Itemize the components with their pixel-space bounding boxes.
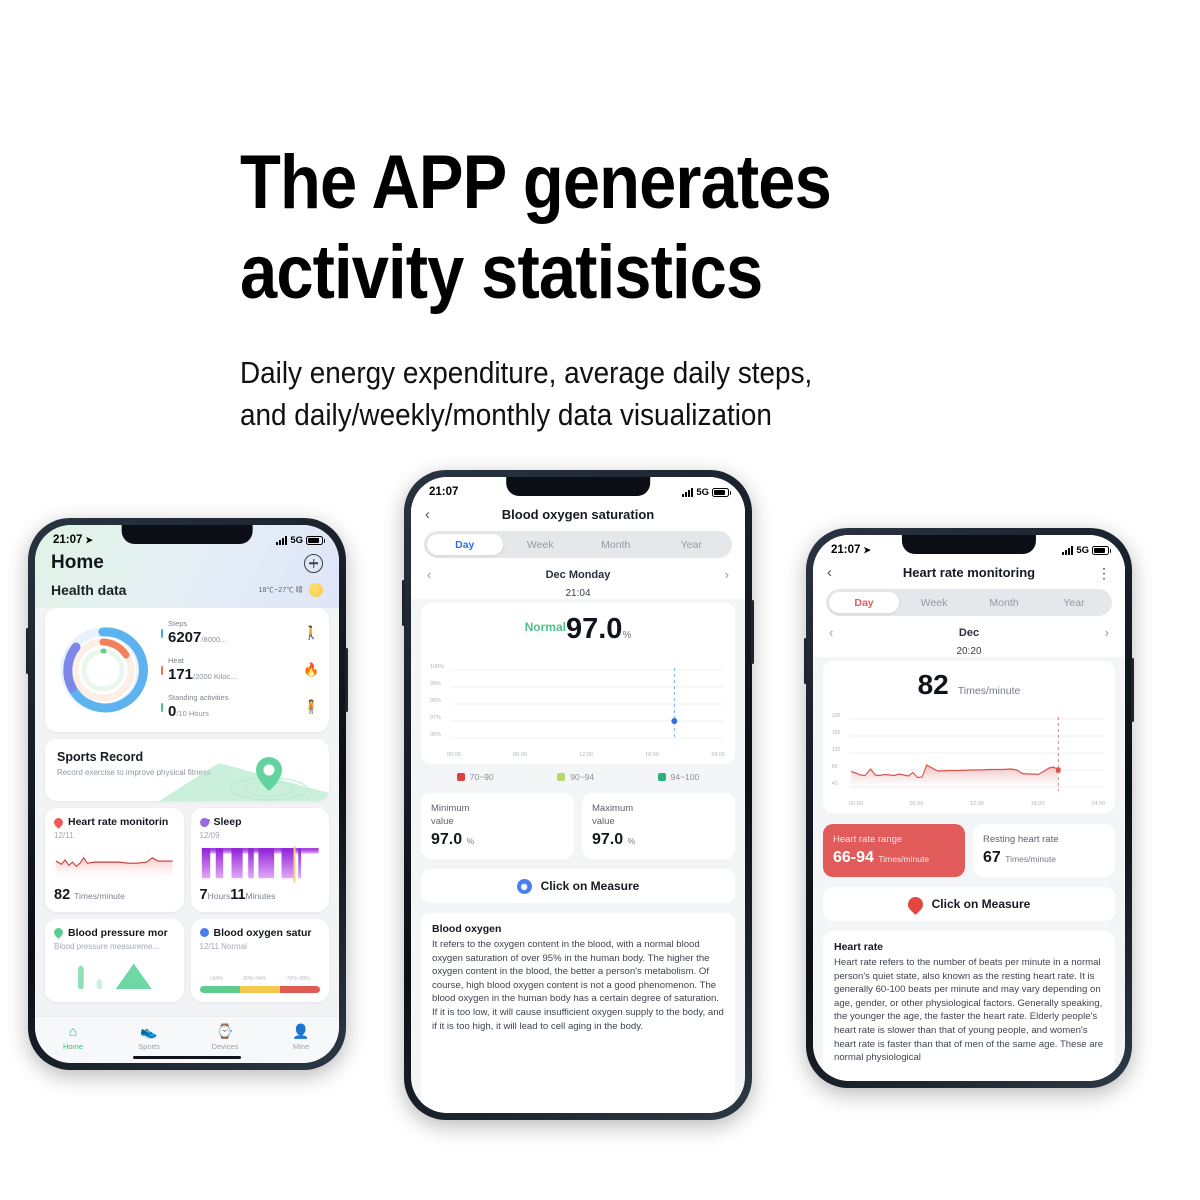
date-navigator: ‹ Dec › bbox=[813, 616, 1125, 642]
tab-mine[interactable]: 👤 Mine bbox=[263, 1023, 339, 1051]
card-sleep-date: 12/09 bbox=[200, 831, 321, 840]
blood-oxygen-info-card: Blood oxygen It refers to the oxygen con… bbox=[421, 913, 735, 1113]
subheadline-line-2: and daily/weekly/monthly data visualizat… bbox=[240, 394, 1050, 436]
card-sleep-hours: 7 bbox=[200, 887, 208, 903]
tab-sports[interactable]: 👟 Sports bbox=[111, 1023, 187, 1051]
metric-steps-goal: /8000... bbox=[201, 635, 226, 644]
heart-icon bbox=[52, 816, 65, 829]
weather-label: 18℃~27℃ 晴 bbox=[259, 585, 303, 595]
metric-standing: Standing activities 0/10 Hours 🧍 bbox=[161, 692, 319, 722]
back-button[interactable]: ‹ bbox=[827, 564, 845, 581]
segment-month[interactable]: Month bbox=[969, 592, 1039, 613]
svg-text:97%: 97% bbox=[430, 715, 441, 721]
card-blood-pressure-title: Blood pressure mor bbox=[68, 927, 168, 939]
metric-steps-value: 6207 bbox=[168, 629, 201, 646]
signal-icon bbox=[1062, 546, 1073, 555]
phone-right-heart-rate: 21:07 ➤ 5G ‹ Heart rate monitoring ⋮ Day bbox=[806, 528, 1132, 1088]
heart-rate-sparkline bbox=[54, 846, 175, 883]
minimum-value-label: Minimum value bbox=[431, 802, 564, 828]
svg-text:99%: 99% bbox=[430, 681, 441, 687]
page-title: Heart rate monitoring bbox=[845, 565, 1093, 580]
heart-rate-unit: Times/minute bbox=[958, 685, 1021, 697]
prev-date-button[interactable]: ‹ bbox=[427, 567, 431, 582]
metric-standing-label: Standing activities bbox=[168, 692, 298, 703]
tab-sports-label: Sports bbox=[111, 1042, 187, 1051]
flame-icon: 🔥 bbox=[303, 662, 319, 678]
card-sleep[interactable]: Sleep 12/09 bbox=[191, 808, 330, 912]
heart-rate-range-label: Heart rate range bbox=[833, 833, 955, 846]
card-blood-oxygen-date: 12/11 Normal bbox=[200, 942, 321, 951]
svg-text:160: 160 bbox=[832, 730, 840, 736]
headline-block: The APP generates activity statistics Da… bbox=[240, 138, 1140, 436]
card-blood-oxygen[interactable]: Blood oxygen satur 12/11 Normal >94% 90%… bbox=[191, 919, 330, 1003]
legend-item-2: 94~100 bbox=[658, 772, 700, 782]
x-tick-4: 24:00 bbox=[1091, 801, 1105, 807]
bottom-tab-bar: ⌂ Home 👟 Sports ⌚ Devices 👤 Mine bbox=[35, 1016, 339, 1063]
blood-pressure-art bbox=[54, 957, 175, 990]
watch-icon: ⌚ bbox=[187, 1023, 263, 1040]
location-arrow-icon: ➤ bbox=[85, 535, 93, 546]
battery-icon bbox=[712, 488, 729, 497]
card-heart-rate-title: Heart rate monitorin bbox=[68, 816, 168, 828]
card-sleep-title: Sleep bbox=[214, 816, 242, 828]
headline-line-1: The APP generates bbox=[240, 138, 1032, 228]
x-tick-1: 06:00 bbox=[910, 801, 924, 807]
status-time: 21:07 bbox=[429, 486, 458, 498]
spo2-measure-icon: ◉ bbox=[517, 879, 532, 894]
x-tick-4: 24:00 bbox=[711, 752, 725, 758]
section-title-health-data: Health data bbox=[51, 582, 126, 598]
spo2-status: Normal bbox=[525, 620, 566, 634]
tab-home-label: Home bbox=[35, 1042, 111, 1051]
maximum-value: 97.0 bbox=[592, 831, 623, 848]
more-vertical-icon[interactable]: ⋮ bbox=[1093, 569, 1111, 577]
network-label: 5G bbox=[290, 535, 303, 546]
metric-heat-label: Heat bbox=[168, 655, 298, 666]
segment-year[interactable]: Year bbox=[654, 534, 730, 555]
headline-line-2: activity statistics bbox=[240, 228, 1032, 318]
heart-rate-range-value: 66-94 bbox=[833, 849, 874, 866]
card-sleep-minutes: 11 bbox=[230, 887, 245, 903]
x-tick-0: 00:00 bbox=[447, 752, 461, 758]
heart-rate-range-unit: Times/minute bbox=[878, 854, 929, 864]
sports-record-card[interactable]: Sports Record Record exercise to improve… bbox=[45, 739, 329, 801]
resting-heart-rate-value: 67 bbox=[983, 849, 1001, 866]
legend-label-1: 90~94 bbox=[570, 772, 594, 782]
period-segmented-control: Day Week Month Year bbox=[424, 531, 732, 558]
legend-label-2: 94~100 bbox=[671, 772, 700, 782]
svg-text:96%: 96% bbox=[430, 732, 441, 738]
heart-rate-value: 82 bbox=[918, 669, 949, 701]
resting-heart-rate-card: Resting heart rate 67 Times/minute bbox=[973, 824, 1115, 877]
blood-oxygen-line-chart: 100%99% 98%97% 96% bbox=[429, 658, 727, 750]
x-tick-0: 00:00 bbox=[849, 801, 863, 807]
heart-rate-reading: 82 Times/minute bbox=[831, 669, 1107, 701]
measure-button[interactable]: Click on Measure bbox=[823, 887, 1115, 921]
heart-rate-area-chart: 200160 12080 40 bbox=[831, 707, 1107, 799]
svg-text:200: 200 bbox=[832, 713, 840, 719]
spo2-range-label-1: 90%~94% bbox=[243, 976, 266, 982]
svg-text:80: 80 bbox=[832, 764, 838, 770]
battery-icon bbox=[1092, 546, 1109, 555]
location-arrow-icon: ➤ bbox=[863, 545, 871, 556]
minimum-value-unit: % bbox=[467, 836, 475, 846]
card-sleep-minutes-unit: Minutes bbox=[246, 891, 276, 901]
home-indicator bbox=[133, 1056, 241, 1060]
sun-icon bbox=[309, 583, 323, 597]
heart-measure-icon bbox=[905, 893, 926, 914]
segment-day[interactable]: Day bbox=[427, 534, 503, 555]
activity-rings-chart bbox=[51, 622, 155, 718]
info-title: Blood oxygen bbox=[432, 923, 724, 935]
info-text: It refers to the oxygen content in the b… bbox=[432, 938, 724, 1033]
blood-oxygen-range-labels: >94% 90%~94% 70%~89% bbox=[200, 976, 321, 982]
subheadline-line-1: Daily energy expenditure, average daily … bbox=[240, 352, 1050, 394]
prev-date-button[interactable]: ‹ bbox=[829, 625, 833, 640]
page-title: Home bbox=[51, 552, 104, 574]
card-heart-rate-value: 82 bbox=[54, 887, 70, 903]
status-time: 21:07 bbox=[53, 534, 82, 546]
tab-devices[interactable]: ⌚ Devices bbox=[187, 1023, 263, 1051]
spo2-range-label-2: 70%~89% bbox=[287, 976, 310, 982]
sleep-bar-chart bbox=[200, 846, 321, 883]
back-button[interactable]: ‹ bbox=[425, 506, 443, 523]
maximum-value-card: Maximum value 97.0 % bbox=[582, 793, 735, 859]
svg-text:100%: 100% bbox=[430, 664, 444, 670]
weather-widget: 18℃~27℃ 晴 bbox=[259, 583, 323, 597]
home-icon: ⌂ bbox=[35, 1023, 111, 1040]
page-title: Blood oxygen saturation bbox=[443, 507, 713, 522]
standing-icon: 🧍 bbox=[303, 699, 319, 715]
status-bar: 21:07 ➤ 5G bbox=[813, 535, 1125, 558]
svg-text:120: 120 bbox=[832, 747, 840, 753]
battery-icon bbox=[306, 536, 323, 545]
x-tick-3: 18:00 bbox=[1031, 801, 1045, 807]
legend-item-1: 90~94 bbox=[557, 772, 594, 782]
maximum-value-unit: % bbox=[628, 836, 636, 846]
metric-steps: Steps 6207/8000... 🚶 bbox=[161, 618, 319, 648]
card-heart-rate-unit: Times/minute bbox=[74, 891, 125, 901]
metric-heat: Heat 171/2000 Kiloc... 🔥 bbox=[161, 655, 319, 685]
reading-timestamp: 21:04 bbox=[411, 584, 745, 599]
maximum-value-label: Maximum value bbox=[592, 802, 725, 828]
phone-left-home: 21:07 ➤ 5G Home Health data bbox=[28, 518, 346, 1070]
blood-oxygen-range-bar bbox=[200, 986, 321, 993]
card-heart-rate-date: 12/11 bbox=[54, 831, 175, 840]
svg-text:40: 40 bbox=[832, 781, 838, 787]
info-text: Heart rate refers to the number of beats… bbox=[834, 956, 1104, 1065]
add-icon[interactable] bbox=[304, 554, 323, 573]
metric-steps-label: Steps bbox=[168, 618, 298, 629]
current-date-label: Dec bbox=[959, 627, 979, 639]
reading-timestamp: 20:20 bbox=[813, 642, 1125, 657]
network-label: 5G bbox=[1076, 545, 1089, 556]
metric-standing-goal: /10 Hours bbox=[176, 709, 209, 718]
metric-heat-goal: /2000 Kiloc... bbox=[193, 672, 236, 681]
next-date-button[interactable]: › bbox=[725, 567, 729, 582]
walking-icon: 🚶 bbox=[303, 625, 319, 641]
shoe-icon: 👟 bbox=[111, 1023, 187, 1040]
measure-button[interactable]: ◉ Click on Measure bbox=[421, 869, 735, 903]
segment-month[interactable]: Month bbox=[578, 534, 654, 555]
date-navigator: ‹ Dec Monday › bbox=[411, 558, 745, 584]
x-tick-3: 18:00 bbox=[645, 752, 659, 758]
status-bar: 21:07 5G bbox=[411, 477, 745, 500]
period-segmented-control: Day Week Month Year bbox=[826, 589, 1112, 616]
measure-button-label: Click on Measure bbox=[932, 897, 1031, 911]
minimum-value-card: Minimum value 97.0 % bbox=[421, 793, 574, 859]
heart-rate-x-axis: 00:00 06:00 12:00 18:00 24:00 bbox=[831, 799, 1107, 807]
heart-rate-info-card: Heart rate Heart rate refers to the numb… bbox=[823, 931, 1115, 1081]
x-tick-2: 12:00 bbox=[970, 801, 984, 807]
svg-text:98%: 98% bbox=[430, 698, 441, 704]
spo2-icon bbox=[200, 928, 209, 937]
card-blood-pressure[interactable]: Blood pressure mor Blood pressure measur… bbox=[45, 919, 184, 1003]
signal-icon bbox=[682, 488, 693, 497]
spo2-unit: % bbox=[622, 630, 631, 641]
segment-week[interactable]: Week bbox=[899, 592, 969, 613]
person-icon: 👤 bbox=[263, 1023, 339, 1040]
card-blood-oxygen-title: Blood oxygen satur bbox=[214, 927, 312, 939]
spo2-range-label-0: >94% bbox=[210, 976, 223, 982]
heart-rate-range-card: Heart rate range 66-94 Times/minute bbox=[823, 824, 965, 877]
next-date-button[interactable]: › bbox=[1105, 625, 1109, 640]
current-date-label: Dec Monday bbox=[546, 569, 611, 581]
tab-mine-label: Mine bbox=[263, 1042, 339, 1051]
status-time: 21:07 bbox=[831, 544, 860, 556]
map-pin-icon bbox=[159, 749, 329, 801]
segment-day[interactable]: Day bbox=[829, 592, 899, 613]
network-label: 5G bbox=[696, 487, 709, 498]
x-tick-2: 12:00 bbox=[579, 752, 593, 758]
phone-left-screen: 21:07 ➤ 5G Home Health data bbox=[35, 525, 339, 1063]
card-blood-pressure-desc: Blood pressure measureme... bbox=[54, 942, 175, 951]
measure-button-label: Click on Measure bbox=[541, 879, 640, 893]
spo2-reading: Normal97.0% bbox=[429, 611, 727, 652]
moon-icon bbox=[198, 816, 210, 828]
bp-icon bbox=[52, 926, 65, 939]
resting-heart-rate-unit: Times/minute bbox=[1005, 854, 1056, 864]
info-title: Heart rate bbox=[834, 941, 1104, 953]
spo2-value: 97.0 bbox=[566, 613, 622, 645]
segment-year[interactable]: Year bbox=[1039, 592, 1109, 613]
blood-oxygen-legend: 70~90 90~94 94~100 bbox=[411, 764, 745, 784]
phone-center-blood-oxygen: 21:07 5G ‹ Blood oxygen saturation Day W… bbox=[404, 470, 752, 1120]
metric-heat-value: 171 bbox=[168, 666, 193, 683]
signal-icon bbox=[276, 536, 287, 545]
phone-right-screen: 21:07 ➤ 5G ‹ Heart rate monitoring ⋮ Day bbox=[813, 535, 1125, 1081]
resting-heart-rate-label: Resting heart rate bbox=[983, 833, 1105, 846]
status-bar: 21:07 ➤ 5G bbox=[35, 525, 339, 548]
card-sleep-hours-unit: Hours bbox=[208, 891, 231, 901]
minimum-value: 97.0 bbox=[431, 831, 462, 848]
phone-center-screen: 21:07 5G ‹ Blood oxygen saturation Day W… bbox=[411, 477, 745, 1113]
segment-week[interactable]: Week bbox=[503, 534, 579, 555]
legend-label-0: 70~90 bbox=[470, 772, 494, 782]
blood-oxygen-x-axis: 00:00 06:00 12:00 18:00 24:00 bbox=[429, 750, 727, 758]
blood-oxygen-chart-card: Normal97.0% 100%99% 98%97% 96% bbox=[421, 603, 735, 764]
card-heart-rate[interactable]: Heart rate monitorin 12/11 bbox=[45, 808, 184, 912]
health-data-card[interactable]: Steps 6207/8000... 🚶 Heat 171/2000 Kiloc… bbox=[45, 608, 329, 732]
x-tick-1: 06:00 bbox=[513, 752, 527, 758]
tab-home[interactable]: ⌂ Home bbox=[35, 1023, 111, 1051]
tab-devices-label: Devices bbox=[187, 1042, 263, 1051]
legend-item-0: 70~90 bbox=[457, 772, 494, 782]
heart-rate-chart-card: 82 Times/minute 200160 12080 bbox=[823, 661, 1115, 813]
